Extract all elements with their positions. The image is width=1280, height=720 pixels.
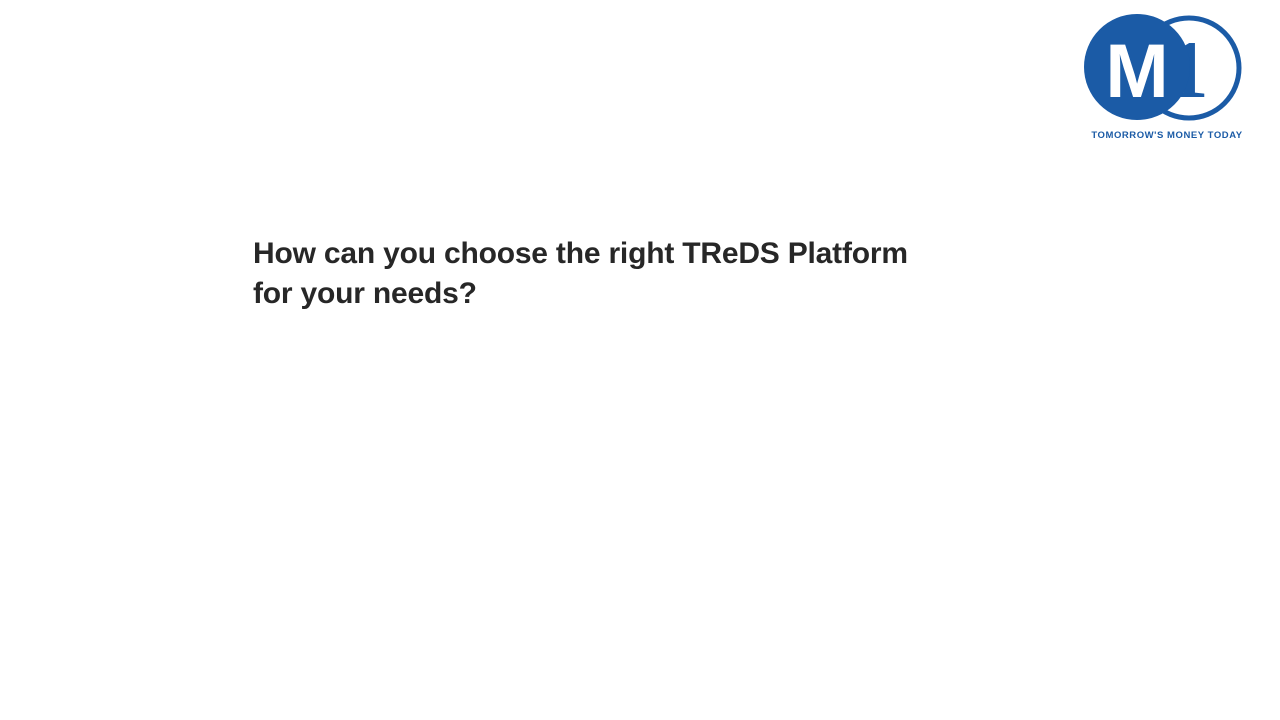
svg-text:M: M <box>1105 29 1168 114</box>
logo-tagline: TOMORROW'S MONEY TODAY <box>1076 130 1258 141</box>
m1-logo-icon: 1 M <box>1076 14 1258 126</box>
brand-logo: 1 M TOMORROW'S MONEY TODAY <box>1076 14 1258 150</box>
slide-canvas: 1 M TOMORROW'S MONEY TODAY How can you c… <box>0 0 1280 720</box>
slide-title: How can you choose the right TReDS Platf… <box>253 234 925 314</box>
